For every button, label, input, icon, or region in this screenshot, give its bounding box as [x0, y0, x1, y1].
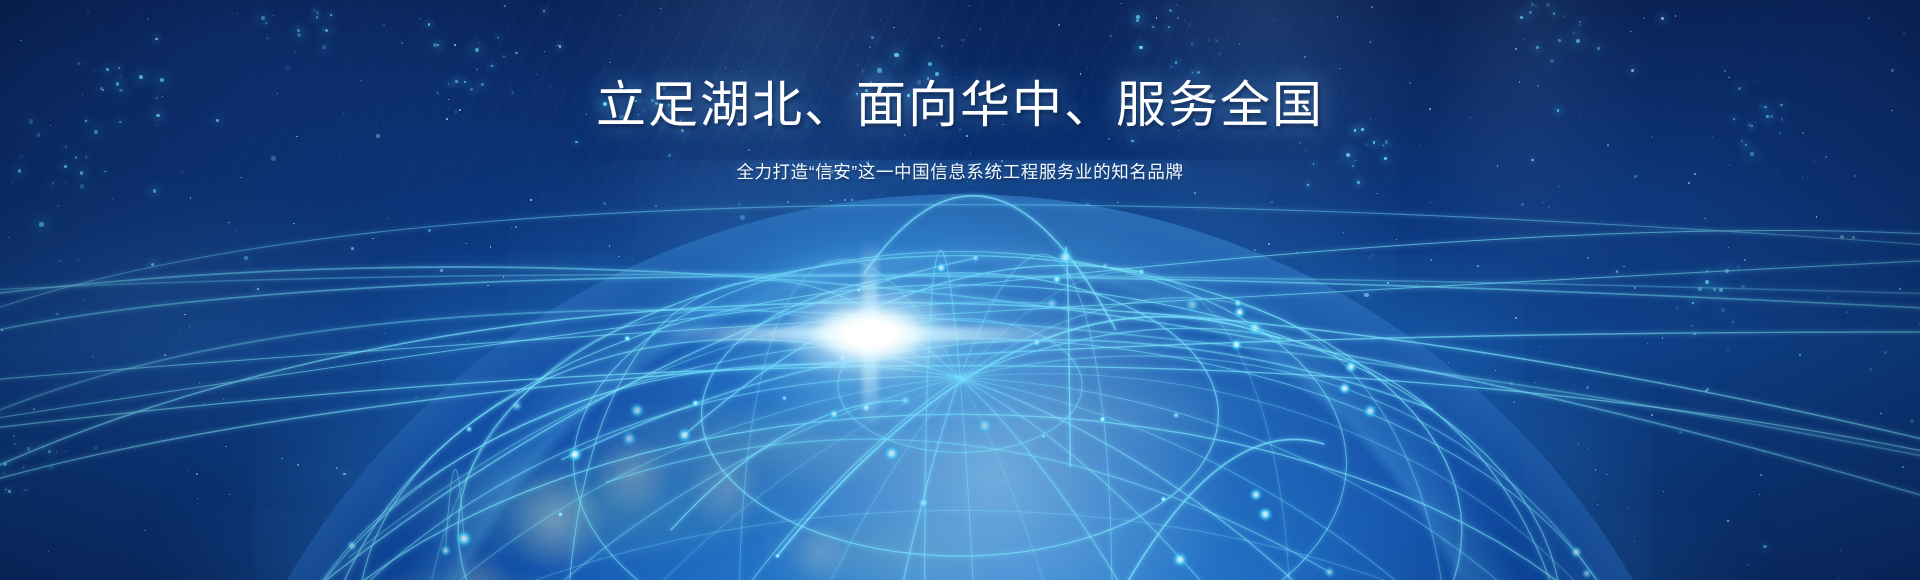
network-node [629, 402, 645, 418]
network-node [1362, 403, 1378, 419]
network-node [883, 445, 900, 462]
network-node [621, 430, 638, 447]
banner-copy: 立足湖北、面向华中、服务全国 全力打造“信安”这一中国信息系统工程服务业的知名品… [0, 76, 1920, 185]
network-node [971, 253, 981, 263]
network-node [781, 395, 787, 401]
network-node [1344, 360, 1358, 374]
network-node [1056, 248, 1074, 266]
network-node [862, 333, 869, 340]
network-arc [960, 378, 1247, 580]
network-node [1137, 268, 1146, 277]
network-arc [671, 400, 906, 530]
network-arc [359, 285, 1561, 580]
network-arc [960, 356, 1626, 580]
network-node [557, 511, 563, 517]
network-node [677, 427, 693, 443]
network-arc [712, 378, 960, 580]
network-arc [397, 378, 960, 580]
network-node [1324, 566, 1336, 578]
network-arc [1124, 439, 1324, 580]
network-node [623, 334, 631, 342]
network-arc [287, 364, 960, 580]
network-arc [574, 252, 1347, 580]
banner-subheadline: 全力打造“信安”这一中国信息系统工程服务业的知名品牌 [0, 160, 1920, 185]
network-node [1045, 296, 1060, 311]
network-node [774, 553, 780, 559]
network-node [1257, 506, 1273, 522]
network-arc [960, 378, 1061, 580]
network-node [510, 399, 523, 412]
network-arc [313, 414, 1606, 580]
network-node [1160, 496, 1167, 503]
network-arc [422, 309, 960, 580]
network-node [1570, 546, 1583, 559]
network-node [1172, 551, 1189, 568]
network-node [935, 262, 947, 274]
network-node [1099, 415, 1107, 423]
network-node [917, 496, 930, 509]
network-node [567, 446, 583, 462]
network-arc [960, 374, 1621, 580]
network-node [1184, 296, 1201, 313]
network-node [1249, 488, 1263, 502]
network-arc [0, 205, 1920, 330]
network-node [1581, 568, 1592, 579]
network-arc [618, 378, 960, 580]
network-arc [960, 255, 1112, 580]
network-node [870, 365, 876, 371]
network-node [439, 545, 451, 557]
network-node [1338, 381, 1352, 395]
network-node [837, 352, 849, 364]
network-node [861, 403, 871, 413]
network-arc [349, 302, 1052, 557]
banner-headline: 立足湖北、面向华中、服务全国 [0, 76, 1920, 134]
network-arc [960, 378, 975, 580]
network-node [455, 530, 473, 548]
network-node [691, 399, 700, 408]
network-node [346, 540, 358, 552]
network-node [976, 417, 993, 434]
network-node [1101, 262, 1108, 269]
network-node [1051, 274, 1062, 285]
network-node [856, 287, 862, 293]
network-node [899, 394, 912, 407]
network-arc [960, 378, 1353, 580]
network-node [1247, 320, 1264, 337]
network-node [465, 425, 473, 433]
network-node [1172, 411, 1180, 419]
network-node [1230, 338, 1243, 351]
network-arc [1065, 247, 1070, 466]
network-node [1032, 337, 1042, 347]
network-node [829, 409, 840, 420]
network-node [1041, 434, 1046, 439]
network-node [1233, 305, 1247, 319]
hero-banner: 立足湖北、面向华中、服务全国 全力打造“信安”这一中国信息系统工程服务业的知名品… [0, 0, 1920, 580]
